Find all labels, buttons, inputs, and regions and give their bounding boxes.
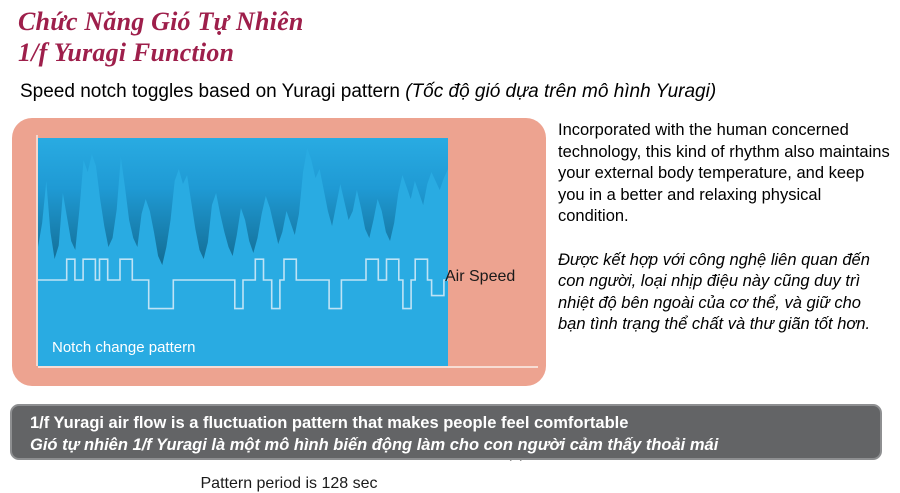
description-english: Incorporated with the human concerned te… [558,120,892,228]
banner-line-english: 1/f Yuragi air flow is a fluctuation pat… [30,412,880,434]
chart-panel: Notch change pattern Air Speed Time (s) … [12,118,546,386]
air-speed-waveform [38,138,448,366]
subtitle-english: Speed notch toggles based on Yuragi patt… [20,81,405,102]
summary-banner: 1/f Yuragi air flow is a fluctuation pat… [10,404,882,460]
subtitle-vietnamese: (Tốc độ gió dựa trên mô hình Yuragi) [405,81,716,102]
title-line-vietnamese: Chức Năng Gió Tự Nhiên [18,6,303,37]
x-axis-line [38,366,538,368]
slide-root: Chức Năng Gió Tự Nhiên 1/f Yuragi Functi… [0,0,900,475]
title-line-english: 1/f Yuragi Function [18,37,303,68]
description-column: Incorporated with the human concerned te… [558,120,892,336]
subtitle: Speed notch toggles based on Yuragi patt… [20,80,716,104]
description-vietnamese: Được kết hợp với công nghệ liên quan đến… [558,250,892,336]
page-title: Chức Năng Gió Tự Nhiên 1/f Yuragi Functi… [18,6,303,68]
banner-line-vietnamese: Gió tự nhiên 1/f Yuragi là một mô hình b… [30,434,880,456]
notch-pattern-label: Notch change pattern [52,339,195,356]
chart-plot-area: Notch change pattern [38,138,448,366]
pattern-period-caption: Pattern period is 128 sec [12,475,546,493]
air-speed-axis-label: Air Speed [445,268,515,286]
pattern-period-text: Pattern period is 128 sec [181,475,378,492]
